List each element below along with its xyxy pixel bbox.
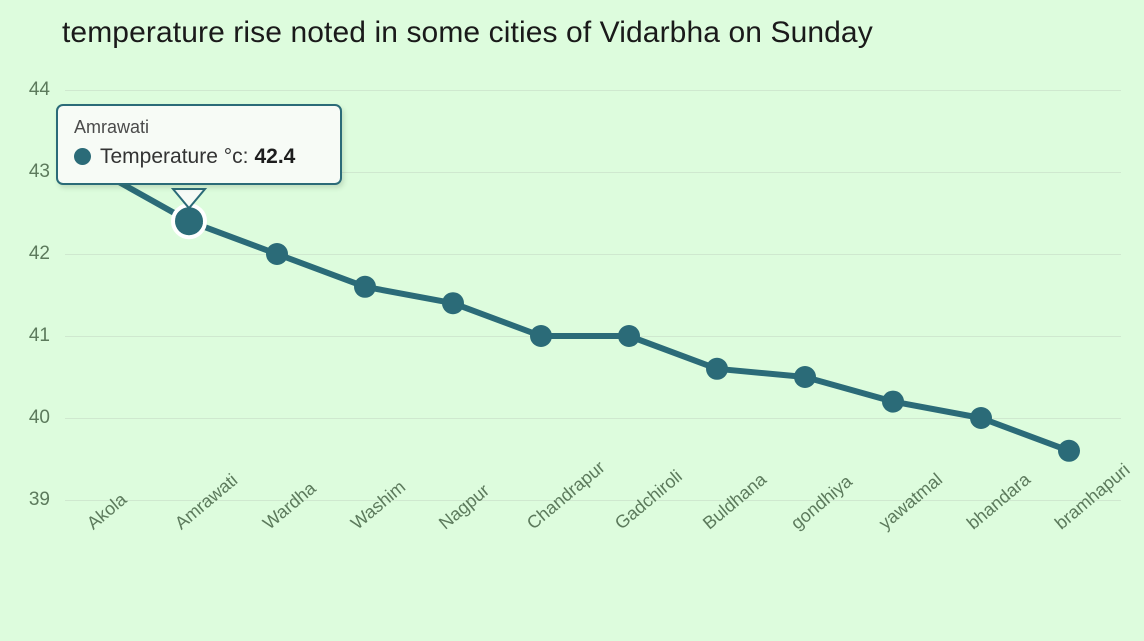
x-tick-label: Washim xyxy=(347,477,410,534)
tooltip-row: Temperature °c: 42.4 xyxy=(74,145,324,169)
series-color-swatch-icon xyxy=(74,148,91,165)
tooltip-series-label: Temperature °c: xyxy=(100,145,248,169)
tooltip-title: Amrawati xyxy=(74,118,324,138)
x-tick-label: Buldhana xyxy=(699,469,771,534)
x-tick-label: Nagpur xyxy=(435,480,494,534)
x-tick-label: bhandara xyxy=(963,469,1035,534)
x-tick-label: Amrawati xyxy=(171,470,242,534)
x-tick-label: yawatmal xyxy=(875,469,947,534)
x-tick-label: bramhapuri xyxy=(1051,459,1134,534)
x-tick-label: Chandrapur xyxy=(523,457,609,534)
chart-container: temperature rise noted in some cities of… xyxy=(0,0,1144,641)
tooltip-value: 42.4 xyxy=(254,145,295,169)
x-tick-label: Akola xyxy=(83,489,131,534)
x-tick-label: gondhiya xyxy=(787,471,856,534)
x-axis: AkolaAmrawatiWardhaWashimNagpurChandrapu… xyxy=(0,0,1144,641)
x-tick-label: Wardha xyxy=(259,478,320,534)
x-tick-label: Gadchiroli xyxy=(611,466,687,534)
data-point-tooltip: Amrawati Temperature °c: 42.4 xyxy=(56,104,342,185)
